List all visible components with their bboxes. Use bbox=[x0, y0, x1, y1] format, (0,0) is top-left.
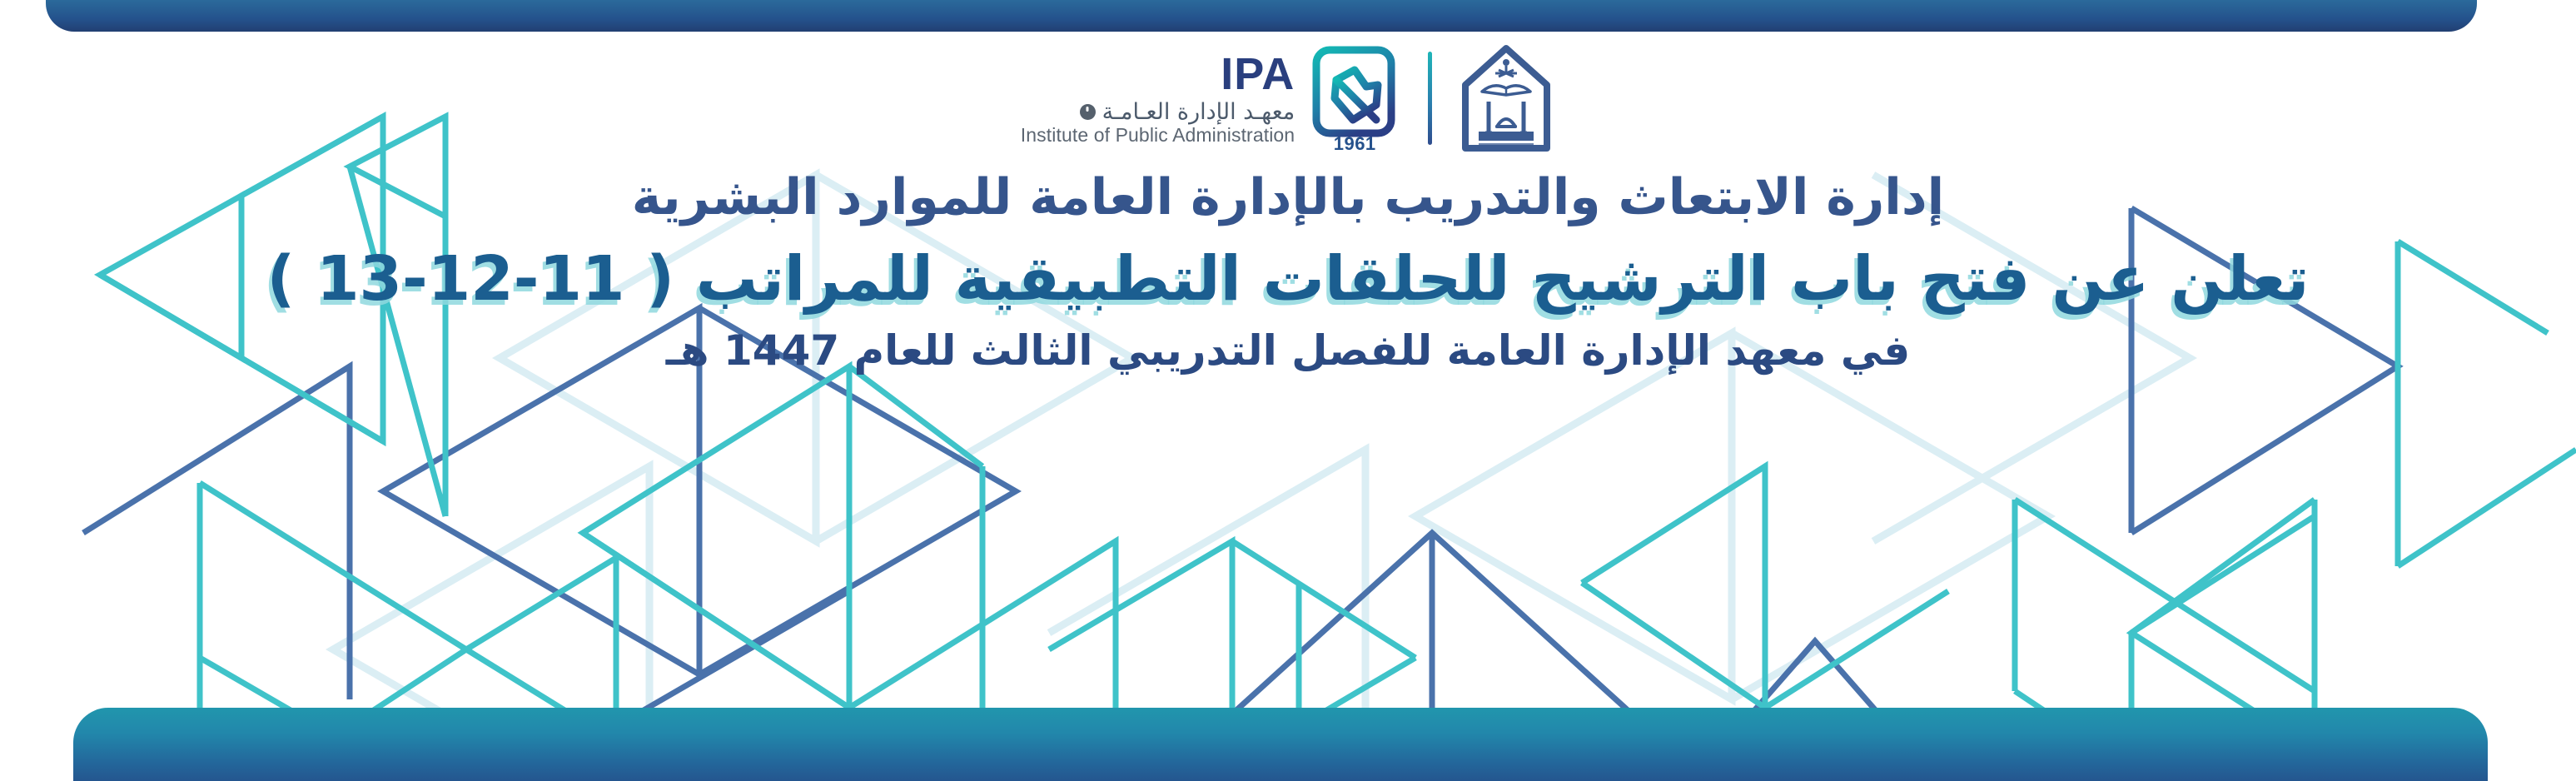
bottom-decorative-bar bbox=[73, 708, 2488, 781]
ipa-arabic-name-row: معهـد الإدارة العـامـة bbox=[1080, 101, 1295, 123]
ipa-arabic-name: معهـد الإدارة العـامـة bbox=[1102, 101, 1295, 123]
ipa-wordmark: IPA معهـد الإدارة العـامـة Institute of … bbox=[1021, 52, 1295, 145]
palm-emblem-icon bbox=[1503, 59, 1509, 66]
announcement-banner: IPA معهـد الإدارة العـامـة Institute of … bbox=[0, 0, 2576, 781]
ipa-abbreviation: IPA bbox=[1221, 52, 1295, 97]
university-calligraphy bbox=[1479, 132, 1534, 141]
ipa-logo: IPA معهـد الإدارة العـامـة Institute of … bbox=[1021, 40, 1403, 157]
saudi-emblem-icon bbox=[1080, 104, 1096, 120]
top-decorative-bar bbox=[46, 0, 2477, 32]
ipa-english-name: Institute of Public Administration bbox=[1021, 126, 1295, 145]
heading-line-2: تعلن عن فتح باب الترشيح للحلقات التطبيقي… bbox=[0, 241, 2576, 318]
imam-university-logo bbox=[1457, 40, 1555, 157]
heading-line-3: في معهد الإدارة العامة للفصل التدريبي ال… bbox=[0, 325, 2576, 377]
heading-line-1: إدارة الابتعاث والتدريب بالإدارة العامة … bbox=[0, 167, 2576, 229]
logo-divider bbox=[1428, 52, 1432, 145]
logo-row: IPA معهـد الإدارة العـامـة Institute of … bbox=[0, 40, 2576, 157]
ipa-symbol-mark: 1961 bbox=[1306, 40, 1403, 157]
ipa-founding-year: 1961 bbox=[1306, 133, 1403, 155]
headings-block: إدارة الابتعاث والتدريب بالإدارة العامة … bbox=[0, 167, 2576, 376]
